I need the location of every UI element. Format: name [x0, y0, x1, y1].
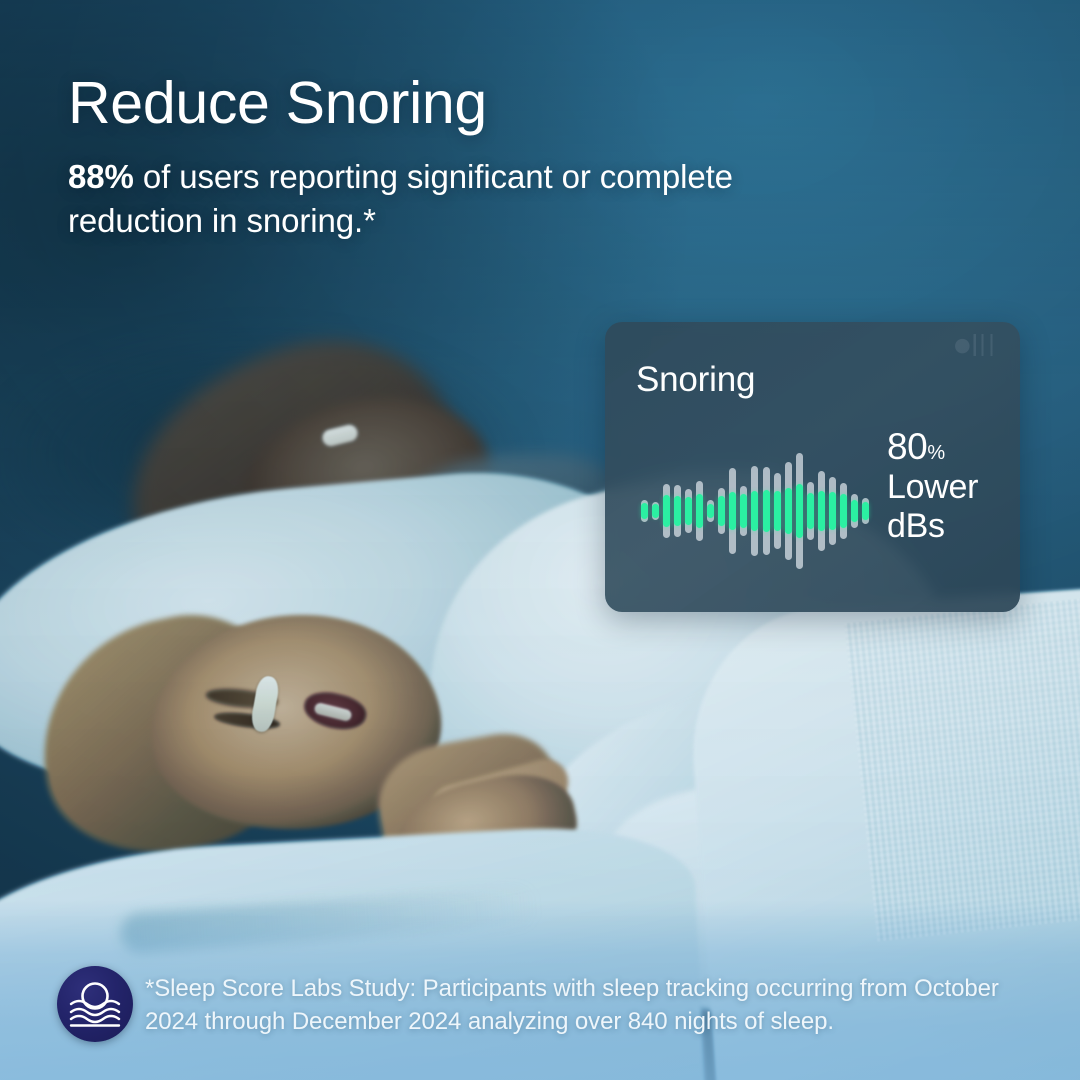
- waveform-bar: [774, 473, 781, 549]
- waveform-bar: [840, 483, 847, 539]
- waveform-bar: [740, 486, 747, 536]
- subheadline-text: of users reporting significant or comple…: [68, 158, 733, 239]
- subheadline: 88% of users reporting significant or co…: [68, 155, 768, 243]
- waveform-bar-active-segment: [862, 502, 869, 520]
- waveform-bar: [652, 502, 659, 520]
- waveform-bar: [641, 500, 648, 522]
- waveform-bar-active-segment: [818, 491, 825, 531]
- sleep-score-labs-logo-icon: [57, 966, 133, 1042]
- waveform-bar: [829, 477, 836, 545]
- waveform-bar-active-segment: [707, 504, 714, 518]
- waveform-bar-active-segment: [829, 492, 836, 530]
- waveform-bar: [685, 489, 692, 533]
- waveform-bar-active-segment: [785, 488, 792, 534]
- snoring-stat: 80% Lower dBs: [887, 426, 1012, 546]
- waveform-bar-active-segment: [763, 490, 770, 532]
- waveform-bar: [718, 488, 725, 534]
- waveform-bar-active-segment: [851, 500, 858, 522]
- waveform-bar-active-segment: [729, 492, 736, 530]
- brand-watermark-icon: [950, 334, 1006, 356]
- waveform-bar: [785, 462, 792, 560]
- waveform-bar: [763, 467, 770, 555]
- stat-value: 80: [887, 426, 927, 467]
- waveform-bar: [751, 466, 758, 556]
- waveform-bar-active-segment: [685, 497, 692, 525]
- page-title: Reduce Snoring: [68, 72, 487, 135]
- stat-unit: %: [927, 442, 945, 464]
- waveform-bar-active-segment: [774, 491, 781, 531]
- waveform-bar: [796, 453, 803, 569]
- waveform-bar: [696, 481, 703, 541]
- waveform-bar-active-segment: [696, 494, 703, 528]
- waveform-bar: [807, 482, 814, 540]
- waveform-bar: [818, 471, 825, 551]
- waveform-bar-active-segment: [652, 504, 659, 518]
- waveform-bar-active-segment: [663, 495, 670, 527]
- waveform-bar-active-segment: [674, 496, 681, 526]
- waveform-bar: [862, 498, 869, 524]
- waveform-bar: [851, 494, 858, 528]
- snoring-waveform-chart: [641, 426, 869, 596]
- study-footnote: *Sleep Score Labs Study: Participants wi…: [145, 972, 1035, 1038]
- snoring-metric-card[interactable]: Snoring 80% Lower dBs: [605, 322, 1020, 612]
- waveform-bar-active-segment: [718, 496, 725, 526]
- stat-label-line2: dBs: [887, 507, 1012, 546]
- waveform-bar-active-segment: [641, 503, 648, 519]
- stat-label-line1: Lower: [887, 468, 1012, 507]
- stat-percentage: 88%: [68, 158, 134, 195]
- waveform-bar: [707, 500, 714, 522]
- waveform-bar-active-segment: [751, 491, 758, 531]
- waveform-bar-active-segment: [840, 494, 847, 528]
- waveform-bar-active-segment: [796, 484, 803, 538]
- waveform-bar-active-segment: [807, 493, 814, 529]
- waveform-bar: [674, 485, 681, 537]
- card-title: Snoring: [636, 360, 755, 400]
- waveform-bar-active-segment: [740, 494, 747, 528]
- waveform-bar: [729, 468, 736, 554]
- waveform-bar: [663, 484, 670, 538]
